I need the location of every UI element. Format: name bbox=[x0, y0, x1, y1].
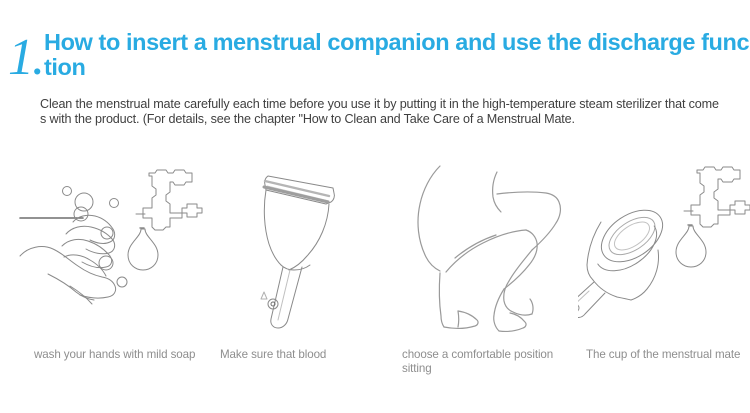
panel-wash-hands: wash your hands with mild soap bbox=[18, 160, 206, 413]
heading-block: 1. How to insert a menstrual companion a… bbox=[0, 30, 750, 86]
washing-hands-under-faucet-icon bbox=[18, 160, 206, 338]
panel-cup-faucet: The cup of the menstrual mate bbox=[578, 160, 750, 413]
intro-paragraph: Clean the menstrual mate carefully each … bbox=[40, 97, 722, 127]
panel-caption: Make sure that blood bbox=[220, 348, 392, 362]
panel-caption: choose a comfortable position sitting bbox=[402, 348, 574, 376]
instruction-page: 1. How to insert a menstrual companion a… bbox=[0, 0, 750, 413]
panel-cup-blood: Make sure that blood bbox=[207, 160, 395, 413]
menstrual-cup-with-blood-icon bbox=[207, 160, 395, 338]
illustration-strip: wash your hands with mild soap bbox=[0, 160, 750, 413]
menstrual-cup-under-faucet-icon bbox=[578, 160, 750, 338]
panel-sitting-position: choose a comfortable position sitting bbox=[393, 160, 581, 413]
page-title: How to insert a menstrual companion and … bbox=[44, 30, 750, 80]
squatting-sitting-position-icon bbox=[393, 160, 581, 338]
panel-caption: The cup of the menstrual mate bbox=[586, 348, 750, 362]
panel-caption: wash your hands with mild soap bbox=[34, 348, 206, 362]
